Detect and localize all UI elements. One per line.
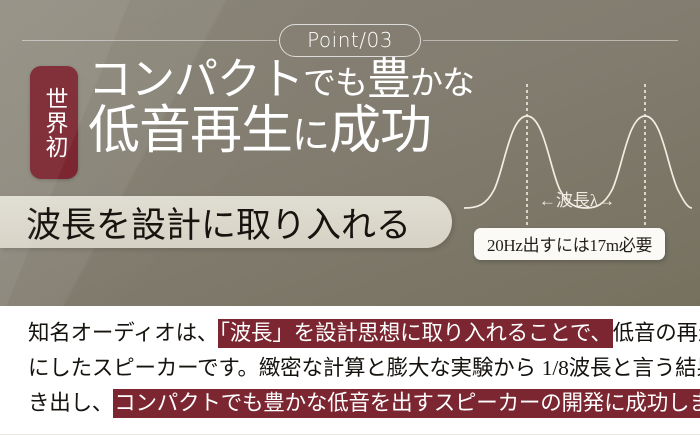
text-plain: 1/8波長と言う結果を導: [542, 356, 700, 380]
text-plain: 低音の再生を可能: [613, 321, 700, 345]
hero-section: Point/03 世界初 コンパクトでも豊かな 低音再生に成功 波長を設計に取り…: [0, 0, 700, 306]
text-plain: 知名オーディオは、: [28, 321, 218, 345]
point-rule-right: [423, 40, 678, 41]
headline: コンパクトでも豊かな 低音再生に成功: [88, 58, 488, 158]
description-line-2: にしたスピーカーです。緻密な計算と膨大な実験から1/8波長と言う結果を導: [28, 351, 676, 386]
headline-word-demo: でも: [303, 66, 367, 102]
headline-word-compact: コンパクト: [88, 55, 303, 104]
text-plain: き出し、: [28, 391, 113, 415]
worlds-first-badge: 世界初: [30, 66, 78, 179]
headline-word-success: 成功: [329, 103, 431, 160]
headline-word-ni: に: [292, 115, 329, 157]
subtitle-banner-label: 波長を設計に取り入れる: [26, 197, 411, 248]
subtitle-banner: 波長を設計に取り入れる: [0, 196, 452, 248]
headline-word-rich: 豊: [367, 55, 410, 104]
description-paragraph: 知名オーディオは、「波長」を設計思想に取り入れることで、低音の再生を可能 にした…: [28, 316, 676, 421]
worlds-first-badge-label: 世界初: [41, 87, 67, 159]
text-plain: にしたスピーカーです。緻密な計算と膨大な実験から: [28, 356, 536, 380]
highlight-phrase-1: 「波長」を設計思想に取り入れることで、: [218, 319, 612, 348]
description-line-1: 知名オーディオは、「波長」を設計思想に取り入れることで、低音の再生を可能: [28, 316, 676, 351]
highlight-phrase-2: コンパクトでも豊かな低音を出すスピーカーの開発に成功しました。: [113, 389, 700, 418]
description-line-3: き出し、コンパクトでも豊かな低音を出すスピーカーの開発に成功しました。: [28, 386, 676, 421]
description-section: 知名オーディオは、「波長」を設計思想に取り入れることで、低音の再生を可能 にした…: [0, 306, 700, 435]
headline-line-1: コンパクトでも豊かな: [88, 58, 488, 103]
frequency-caption: 20Hz出すには17m必要: [474, 228, 665, 260]
wavelength-label: ←波長λ→: [512, 186, 642, 211]
headline-word-bass: 低音再生: [88, 103, 292, 160]
promo-graphic: Point/03 世界初 コンパクトでも豊かな 低音再生に成功 波長を設計に取り…: [0, 0, 700, 435]
point-badge: Point/03: [279, 24, 421, 57]
point-rule-left: [22, 40, 277, 41]
headline-line-2: 低音再生に成功: [88, 105, 488, 158]
point-header: Point/03: [0, 20, 700, 60]
